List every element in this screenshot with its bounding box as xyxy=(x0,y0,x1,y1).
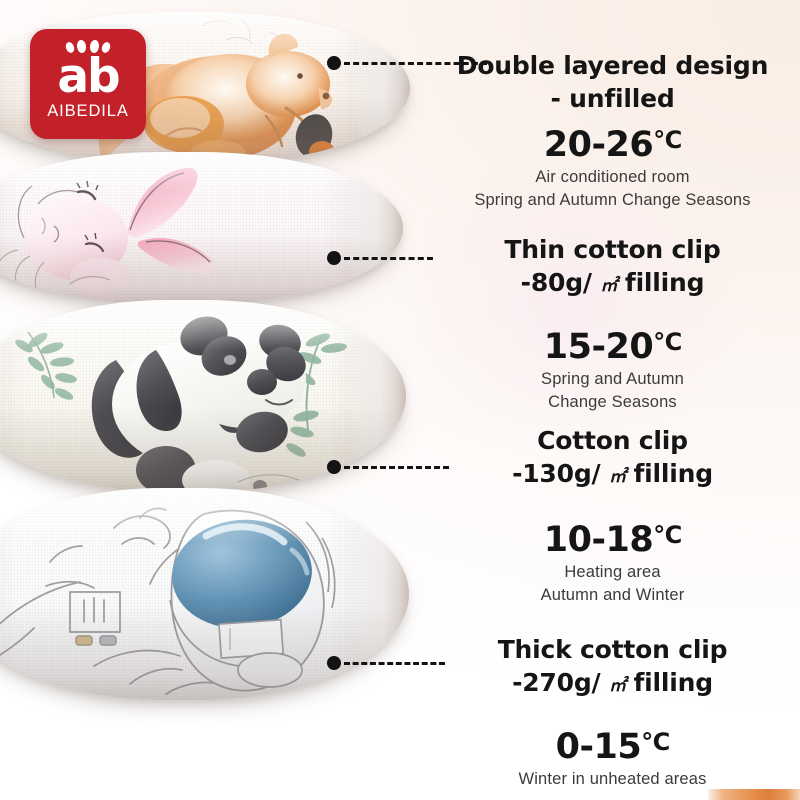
spec-title-line1: Cotton clip xyxy=(537,426,688,455)
spec-description: Air conditioned room Spring and Autumn C… xyxy=(425,166,800,213)
leader-dot-icon xyxy=(327,251,341,265)
spec-temp-range: 15-20 xyxy=(544,327,653,367)
spec-temperature: 20-26℃ xyxy=(425,127,800,164)
spec-temp-unit: ℃ xyxy=(641,728,669,756)
leader-dot-icon xyxy=(327,656,341,670)
spec-title: Thin cotton clip -80g/ ㎡ filling xyxy=(425,234,800,299)
bunny-print-illustration xyxy=(0,152,403,304)
fabric-roll-bunny xyxy=(0,152,403,304)
spec-title: Double layered design - unfilled xyxy=(425,50,800,115)
spec-title-line1: Thick cotton clip xyxy=(498,635,728,664)
spec-filling-label: filling xyxy=(633,459,712,488)
leader-dash xyxy=(344,257,433,260)
spec-filling-unit: ㎡ xyxy=(609,467,625,487)
spec-filling-weight: -80g/ xyxy=(521,268,592,297)
spec-sub-line1: Spring and Autumn xyxy=(541,370,684,388)
brand-name: AIBEDILA xyxy=(47,102,128,121)
spec-sub-line1: Heating area xyxy=(564,563,660,581)
spec-description: Spring and Autumn Change Seasons xyxy=(425,368,800,415)
infographic-canvas: ab AIBEDILA Double layered design - unfi… xyxy=(0,0,800,800)
spec-temperature: 15-20℃ xyxy=(425,329,800,366)
spec-block-4: Thick cotton clip -270g/ ㎡ filling 0-15℃… xyxy=(425,634,800,791)
spec-sub-line2: Change Seasons xyxy=(548,393,677,411)
spec-title-line1: Thin cotton clip xyxy=(504,235,720,264)
spec-title-line1: Double layered design xyxy=(457,51,768,80)
product-photo-column: ab AIBEDILA xyxy=(0,0,425,800)
leader-dot-icon xyxy=(327,56,341,70)
spec-title-line2: - unfilled xyxy=(550,84,674,113)
spec-title: Cotton clip -130g/ ㎡ filling xyxy=(425,425,800,490)
spec-temperature: 0-15℃ xyxy=(425,729,800,766)
corner-accent-strip xyxy=(708,789,800,800)
spec-filling-unit: ㎡ xyxy=(600,276,616,296)
spec-temp-unit: ℃ xyxy=(653,126,681,154)
spec-sub-line2: Autumn and Winter xyxy=(541,586,685,604)
spec-filling-weight: -270g/ xyxy=(512,668,600,697)
spec-description: Heating area Autumn and Winter xyxy=(425,561,800,608)
spec-temp-range: 20-26 xyxy=(544,125,653,165)
spec-filling-label: filling xyxy=(633,668,712,697)
spec-sub-line2: Spring and Autumn Change Seasons xyxy=(474,191,750,209)
spec-temp-range: 0-15 xyxy=(556,727,642,767)
spec-filling-unit: ㎡ xyxy=(609,676,625,696)
spec-text-column: Double layered design - unfilled 20-26℃ … xyxy=(425,0,800,800)
spec-temperature: 10-18℃ xyxy=(425,522,800,559)
spec-filling-label: filling xyxy=(625,268,704,297)
spec-filling-weight: -130g/ xyxy=(512,459,600,488)
spec-block-2: Thin cotton clip -80g/ ㎡ filling 15-20℃ … xyxy=(425,234,800,415)
spec-sub-line1: Winter in unheated areas xyxy=(519,770,707,788)
spec-title: Thick cotton clip -270g/ ㎡ filling xyxy=(425,634,800,699)
spec-block-1: Double layered design - unfilled 20-26℃ … xyxy=(425,50,800,213)
leader-dot-icon xyxy=(327,460,341,474)
spec-description: Winter in unheated areas xyxy=(425,768,800,791)
spec-temp-unit: ℃ xyxy=(653,521,681,549)
spec-sub-line1: Air conditioned room xyxy=(535,168,689,186)
spec-block-3: Cotton clip -130g/ ㎡ filling 10-18℃ Heat… xyxy=(425,425,800,608)
brand-monogram: ab xyxy=(57,54,118,99)
leader-line-2 xyxy=(327,251,433,265)
spec-temp-range: 10-18 xyxy=(544,520,653,560)
brand-logo: ab AIBEDILA xyxy=(30,29,146,139)
spec-temp-unit: ℃ xyxy=(653,328,681,356)
